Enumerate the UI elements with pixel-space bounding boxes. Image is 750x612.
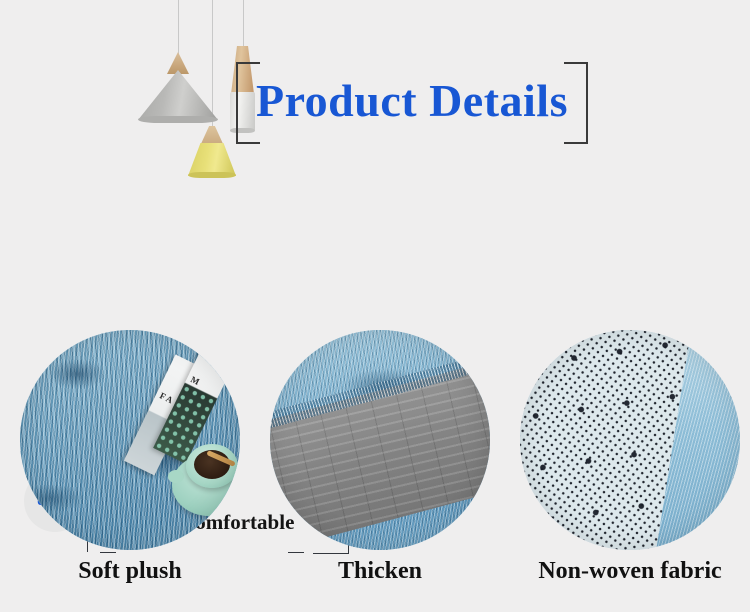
grey-cone-pendant-lamp-rim	[138, 116, 218, 123]
lamp-cord	[243, 0, 244, 48]
feature-caption-thicken: Thicken	[260, 558, 500, 585]
lamp-cord	[178, 0, 179, 58]
feature-image-soft-plush: FA M	[20, 330, 240, 550]
feature-image-non-woven-fabric	[520, 330, 740, 550]
grey-cone-pendant-lamp	[138, 70, 218, 120]
feature-item: Thicken	[260, 330, 500, 612]
page-title-frame: Product Details	[236, 62, 588, 142]
teacup-handle	[168, 470, 184, 483]
feature-gallery: FA M Soft plush Th	[0, 330, 750, 612]
feature-item: FA M Soft plush	[10, 330, 250, 612]
bracket-right-decoration	[564, 62, 588, 144]
feature-item: Non-woven fabric	[510, 330, 750, 612]
feature-caption-non-woven-fabric: Non-woven fabric	[510, 558, 750, 585]
product-details-page: Product Details detail It's not just com…	[0, 0, 750, 612]
page-title: Product Details	[236, 62, 588, 140]
feature-caption-soft-plush: Soft plush	[10, 558, 250, 585]
hero-section: Product Details	[0, 0, 750, 200]
feature-image-thicken	[270, 330, 490, 550]
subhead-section: detail It's not just comfortable	[0, 232, 750, 332]
yellow-cone-pendant-lamp-rim	[188, 172, 236, 178]
